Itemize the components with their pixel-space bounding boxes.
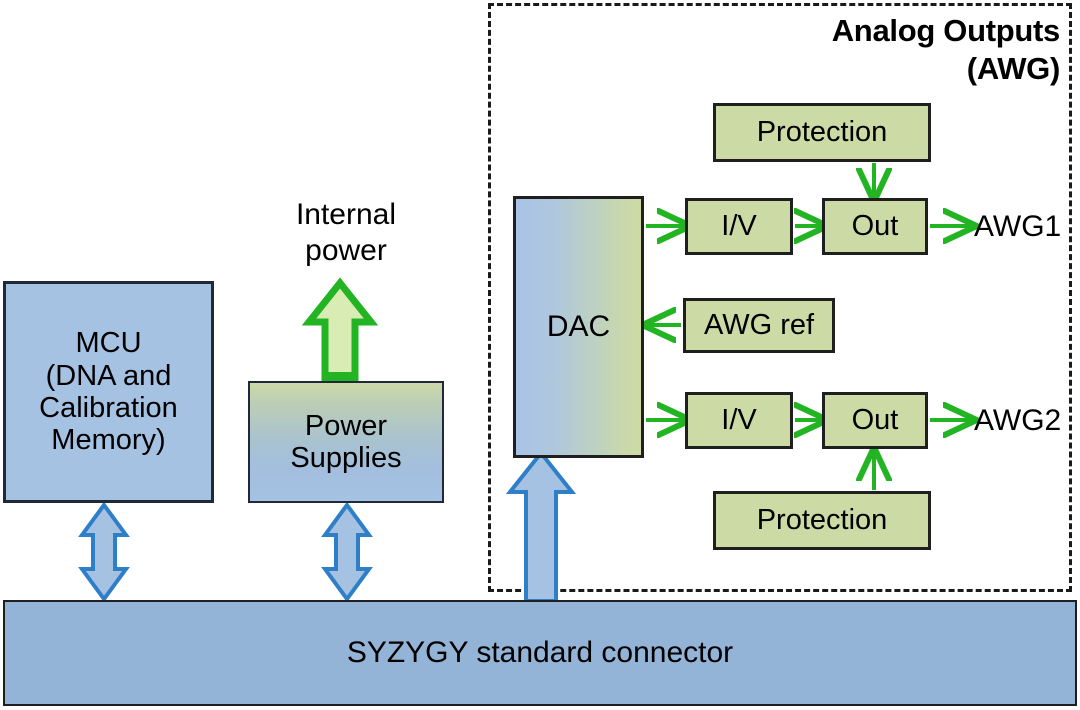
- syzygy-connector-label: SYZYGY standard connector: [347, 636, 733, 670]
- protection-bottom-label: Protection: [757, 504, 888, 536]
- mcu-line-4: Memory): [39, 424, 178, 456]
- block-power-supplies[interactable]: Power Supplies: [248, 381, 444, 503]
- internal-power-line-1: Internal: [255, 197, 437, 233]
- arrow-internal-power: [309, 283, 371, 388]
- awg-ref-label: AWG ref: [704, 309, 814, 341]
- block-dac[interactable]: DAC: [513, 196, 644, 458]
- label-awg1-output: AWG1: [974, 209, 1061, 245]
- block-iv-bottom[interactable]: I/V: [685, 392, 793, 449]
- iv-top-label: I/V: [721, 210, 756, 242]
- block-protection-bottom[interactable]: Protection: [713, 491, 931, 550]
- block-protection-top[interactable]: Protection: [713, 103, 931, 162]
- label-internal-power: Internal power: [255, 197, 437, 269]
- internal-power-line-2: power: [255, 233, 437, 269]
- dac-label: DAC: [547, 310, 610, 344]
- label-awg2-output: AWG2: [974, 403, 1061, 439]
- mcu-line-3: Calibration: [39, 392, 178, 424]
- block-syzygy-connector[interactable]: SYZYGY standard connector: [3, 600, 1077, 706]
- block-diagram-canvas: Analog Outputs (AWG): [0, 0, 1080, 710]
- group-title-line-2: (AWG): [700, 50, 1060, 88]
- block-awg-ref[interactable]: AWG ref: [683, 298, 835, 353]
- group-title-line-1: Analog Outputs: [700, 12, 1060, 50]
- out-top-label: Out: [852, 210, 899, 242]
- power-supplies-line-1: Power: [290, 410, 401, 442]
- block-out-bottom[interactable]: Out: [822, 392, 928, 449]
- analog-outputs-group-title: Analog Outputs (AWG): [700, 12, 1060, 88]
- mcu-line-2: (DNA and: [39, 360, 178, 392]
- arrow-power-supplies-to-syzygy: [325, 505, 369, 599]
- iv-bottom-label: I/V: [721, 404, 756, 436]
- block-out-top[interactable]: Out: [822, 198, 928, 255]
- protection-top-label: Protection: [757, 116, 888, 148]
- power-supplies-line-2: Supplies: [290, 442, 401, 474]
- out-bottom-label: Out: [852, 404, 899, 436]
- mcu-line-1: MCU: [39, 327, 178, 359]
- arrow-mcu-to-syzygy: [82, 505, 126, 599]
- block-iv-top[interactable]: I/V: [685, 198, 793, 255]
- block-mcu[interactable]: MCU (DNA and Calibration Memory): [3, 281, 214, 503]
